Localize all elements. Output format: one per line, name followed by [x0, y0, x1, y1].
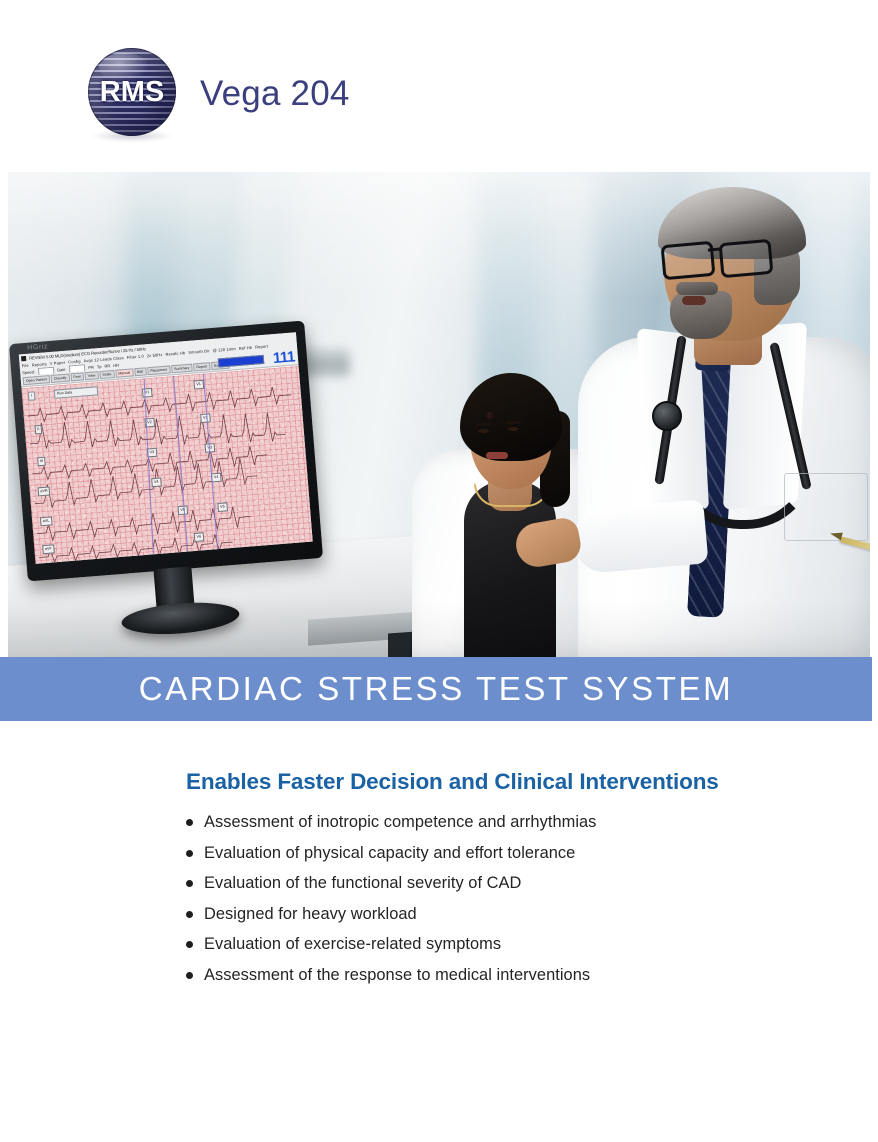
list-item: Evaluation of physical capacity and effo…	[186, 842, 596, 864]
logo-text: RMS	[86, 48, 178, 136]
pr-label: PR	[88, 365, 94, 370]
tab-edit[interactable]: Edit	[134, 367, 147, 376]
monitor-screen: REVIEW 5.00 MLD(medium) ECG Recorder/Sun…	[19, 332, 313, 564]
lead-marker: V6	[194, 532, 204, 542]
tab-placement[interactable]: Placement	[147, 365, 171, 375]
app-icon	[21, 356, 26, 361]
feature-text: Assessment of the response to medical in…	[204, 964, 590, 986]
feature-text: Assessment of inotropic competence and a…	[204, 811, 596, 833]
features-headline: Enables Faster Decision and Clinical Int…	[186, 769, 719, 795]
brochure-page: RMS Vega 204	[0, 0, 878, 1142]
eye	[478, 429, 489, 433]
bullet-dot-icon	[186, 850, 193, 857]
section-banner: CARDIAC STRESS TEST SYSTEM	[0, 657, 872, 721]
lead-label-aVL: aVL	[40, 516, 52, 526]
lead-label-V1: V1	[193, 380, 203, 390]
tp-label: Tp	[97, 364, 102, 369]
eyebrow	[505, 421, 521, 424]
lead-label-aVF: aVF	[42, 544, 55, 554]
bullet-dot-icon	[186, 819, 193, 826]
lips	[486, 452, 508, 459]
coat-pocket	[784, 473, 868, 541]
moustache	[676, 282, 718, 295]
tab-print[interactable]: Print	[70, 372, 84, 381]
list-item: Designed for heavy workload	[186, 903, 596, 925]
list-item: Evaluation of exercise-related symptoms	[186, 933, 596, 955]
bullet-dot-icon	[186, 911, 193, 918]
banner-title: CARDIAC STRESS TEST SYSTEM	[139, 670, 734, 708]
list-item: Assessment of inotropic competence and a…	[186, 811, 596, 833]
bullet-dot-icon	[186, 941, 193, 948]
tab-classify[interactable]: Classify	[51, 374, 70, 383]
glasses-lens	[719, 239, 774, 278]
feature-text: Evaluation of exercise-related symptoms	[204, 933, 501, 955]
tab-manual[interactable]: Manual	[115, 368, 133, 377]
hero-photo: HGriz REVIEW 5.00 MLD(medium) ECG Record…	[8, 172, 870, 657]
eye	[508, 427, 519, 431]
glasses-lens	[661, 241, 716, 280]
heart-rate-value: 111	[272, 348, 295, 367]
eyeglasses-icon	[662, 241, 780, 271]
hr-label: HR	[113, 363, 119, 368]
mouth	[682, 296, 706, 305]
tab-open-patient[interactable]: Open Patient	[23, 375, 51, 385]
lead-label-II: II	[35, 425, 43, 435]
desktop-monitor: HGriz REVIEW 5.00 MLD(medium) ECG Record…	[9, 321, 323, 582]
bullet-dot-icon	[186, 972, 193, 979]
feature-text: Evaluation of the functional severity of…	[204, 872, 521, 894]
feature-text: Evaluation of physical capacity and effo…	[204, 842, 575, 864]
gain-label: Gain:	[57, 367, 67, 373]
tab-summary[interactable]: Summary	[171, 364, 193, 374]
ecg-waveform-grid: I Run Data II III aVR aVL aVF V1 V2 V3 V…	[22, 366, 313, 564]
rms-sphere-logo: RMS	[86, 48, 178, 140]
ecg-menu-item[interactable]: Ref Hb	[239, 345, 253, 351]
lead-label-III: III	[37, 457, 46, 467]
rr-label: RR	[104, 363, 110, 368]
stethoscope-chestpiece	[652, 401, 682, 431]
bindi	[486, 412, 493, 419]
arm	[571, 499, 708, 574]
hair	[460, 373, 562, 461]
tab-view[interactable]: View	[84, 371, 98, 380]
list-item: Assessment of the response to medical in…	[186, 964, 596, 986]
bullet-dot-icon	[186, 880, 193, 887]
speed-label: Speed:	[22, 369, 35, 375]
features-list: Assessment of inotropic competence and a…	[186, 811, 596, 994]
lead-select-button[interactable]: I	[28, 391, 36, 401]
tab-report[interactable]: Report	[193, 362, 210, 371]
eyebrow	[475, 423, 491, 426]
monitor-brand-label: HGriz	[27, 343, 48, 352]
ecg-menu-item[interactable]: File	[22, 363, 29, 369]
feature-text: Designed for heavy workload	[204, 903, 417, 925]
brand-lockup: RMS Vega 204	[86, 48, 350, 140]
monitor-bezel: HGriz REVIEW 5.00 MLD(medium) ECG Record…	[9, 321, 323, 582]
product-name: Vega 204	[200, 74, 350, 114]
page-header: RMS Vega 204	[0, 0, 878, 172]
lead-label-V5: V5	[217, 502, 227, 512]
list-item: Evaluation of the functional severity of…	[186, 872, 596, 894]
male-doctor	[578, 187, 870, 657]
lead-marker: V4	[151, 478, 161, 488]
tab-scale[interactable]: Scale	[99, 370, 115, 379]
ecg-menu-item[interactable]: Report	[255, 343, 268, 349]
lead-label-aVR: aVR	[38, 486, 51, 496]
